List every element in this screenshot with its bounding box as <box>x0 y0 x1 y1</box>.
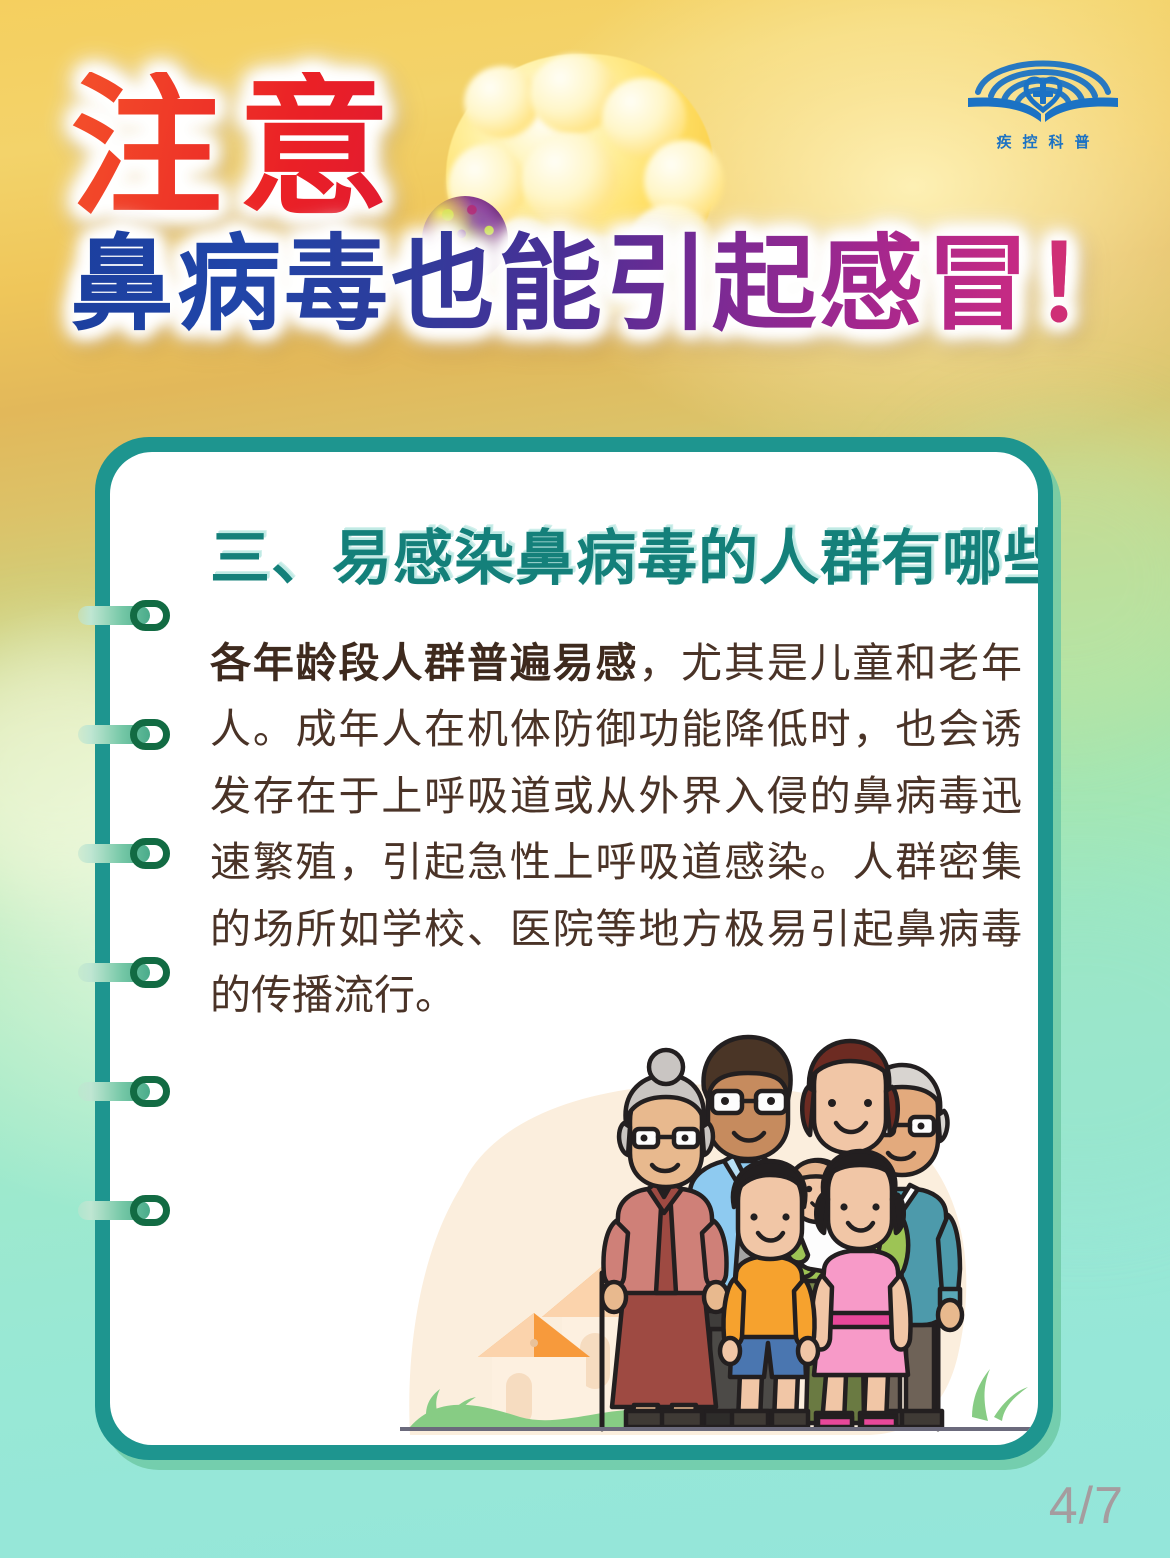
poster-root: 注意 鼻病毒也能引起感冒！ <box>0 0 1170 1558</box>
spiral-ring <box>78 719 170 749</box>
spiral-ring <box>78 600 170 630</box>
spiral-ring-hook <box>130 600 170 631</box>
body-text-bold-lead: 各年龄段人群普遍易感 <box>210 639 638 687</box>
family-illustration <box>110 1025 1038 1445</box>
brand-logo-text: 疾控科普 <box>958 131 1128 152</box>
content-card: 三、易感染鼻病毒的人群有哪些？ 各年龄段人群普遍易感，尤其是儿童和老年人。成年人… <box>95 437 1053 1460</box>
spiral-ring <box>78 957 170 987</box>
spiral-ring <box>78 1076 170 1106</box>
family-illustration-svg <box>110 1025 1038 1445</box>
spiral-ring <box>78 838 170 868</box>
spiral-ring-hook <box>130 719 170 750</box>
poster-header: 注意 鼻病毒也能引起感冒！ <box>0 0 1170 430</box>
open-book-heart-cross-icon <box>958 36 1128 124</box>
body-text-rest: ，尤其是儿童和老年人。成年人在机体防御功能降低时，也会诱发存在于上呼吸道或从外界… <box>210 639 1022 1019</box>
poster-title-sub: 鼻病毒也能引起感冒！ <box>70 230 1140 339</box>
poster-title-exclamation: ！ <box>1033 223 1140 345</box>
spiral-ring-hook <box>130 1195 170 1226</box>
brand-logo: 疾控科普 <box>958 36 1128 148</box>
page-indicator: 4/7 <box>1049 1476 1124 1536</box>
spiral-ring-hook <box>130 838 170 869</box>
section-heading: 三、易感染鼻病毒的人群有哪些？ <box>210 510 1038 597</box>
spiral-ring-hook <box>130 1076 170 1107</box>
spiral-ring <box>78 1195 170 1225</box>
poster-title-sub-text: 鼻病毒也能引起感冒 <box>70 223 1033 345</box>
spiral-ring-hook <box>130 957 170 988</box>
spiral-binding-rings <box>78 600 188 1220</box>
content-card-inner: 三、易感染鼻病毒的人群有哪些？ 各年龄段人群普遍易感，尤其是儿童和老年人。成年人… <box>110 452 1038 1445</box>
section-body-text: 各年龄段人群普遍易感，尤其是儿童和老年人。成年人在机体防御功能降低时，也会诱发存… <box>210 630 1022 1028</box>
